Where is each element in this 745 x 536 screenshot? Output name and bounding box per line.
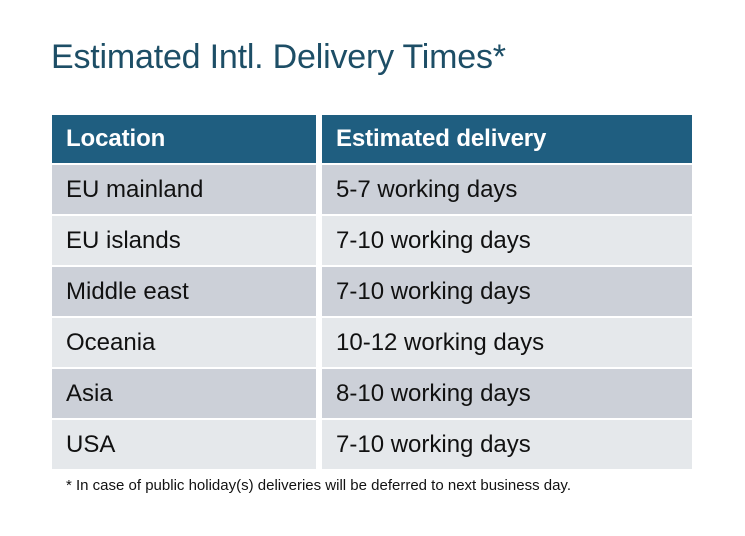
cell-estimated-delivery: 10-12 working days [322,318,692,367]
page-title: Estimated Intl. Delivery Times* [51,36,506,78]
cell-estimated-delivery: 7-10 working days [322,420,692,469]
cell-estimated-delivery: 7-10 working days [322,267,692,316]
table-row: Oceania 10-12 working days [52,318,692,367]
footnote-text: * In case of public holiday(s) deliverie… [66,476,571,496]
cell-location: Oceania [52,318,316,367]
cell-estimated-delivery: 7-10 working days [322,216,692,265]
column-header-estimated-delivery: Estimated delivery [322,115,692,163]
table-row: Asia 8-10 working days [52,369,692,418]
delivery-times-table: Location Estimated delivery EU mainland … [52,115,692,469]
delivery-times-panel: Estimated Intl. Delivery Times* Location… [0,0,745,536]
table-row: USA 7-10 working days [52,420,692,469]
table-row: EU mainland 5-7 working days [52,165,692,214]
cell-estimated-delivery: 8-10 working days [322,369,692,418]
table-row: Middle east 7-10 working days [52,267,692,316]
table-row: EU islands 7-10 working days [52,216,692,265]
cell-location: EU mainland [52,165,316,214]
table-header-row: Location Estimated delivery [52,115,692,163]
cell-location: USA [52,420,316,469]
cell-location: Middle east [52,267,316,316]
cell-location: EU islands [52,216,316,265]
cell-estimated-delivery: 5-7 working days [322,165,692,214]
column-header-location: Location [52,115,316,163]
cell-location: Asia [52,369,316,418]
